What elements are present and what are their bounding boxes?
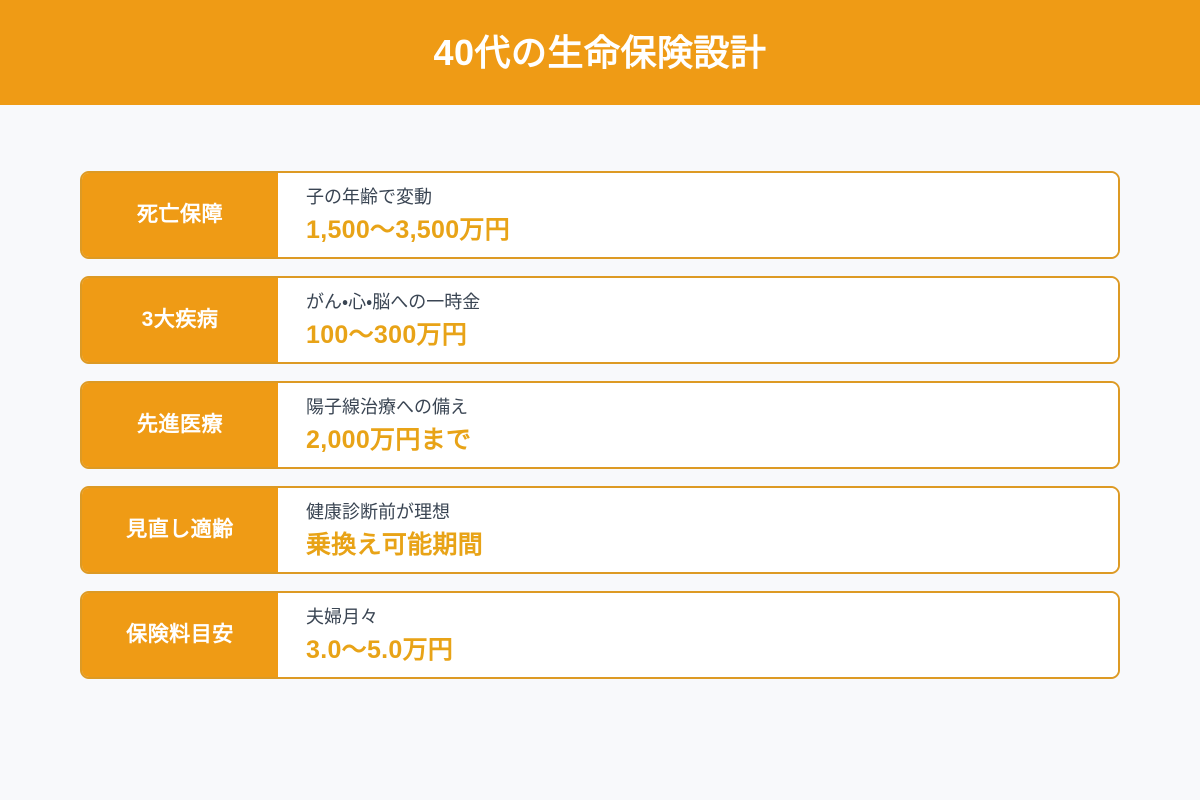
coverage-row-value: 2,000万円まで (306, 425, 1118, 455)
coverage-row-body: 夫婦月々 3.0〜5.0万円 (278, 593, 1118, 677)
coverage-row-body: 健康診断前が理想 乗換え可能期間 (278, 488, 1118, 572)
coverage-row-label: 見直し適齢 (126, 517, 234, 542)
coverage-row-body: 陽子線治療への備え 2,000万円まで (278, 383, 1118, 467)
coverage-row-label: 保険料目安 (126, 622, 234, 647)
coverage-card-list: 死亡保障 子の年齢で変動 1,500〜3,500万円 3大疾病 がん・心・脳への… (0, 171, 1200, 679)
coverage-row-description: 子の年齢で変動 (306, 185, 1118, 209)
coverage-row-label: 先進医療 (137, 412, 223, 437)
infographic-page: 40代の生命保険設計 死亡保障 子の年齢で変動 1,500〜3,500万円 3大… (0, 0, 1200, 800)
coverage-row-description: がん・心・脳への一時金 (306, 290, 1118, 314)
coverage-row-label: 死亡保障 (137, 202, 223, 227)
coverage-row-body: 子の年齢で変動 1,500〜3,500万円 (278, 173, 1118, 257)
coverage-row: 保険料目安 夫婦月々 3.0〜5.0万円 (80, 591, 1120, 679)
coverage-row: 先進医療 陽子線治療への備え 2,000万円まで (80, 381, 1120, 469)
coverage-row-value: 100〜300万円 (306, 320, 1118, 350)
page-title: 40代の生命保険設計 (433, 35, 766, 71)
coverage-row-description: 夫婦月々 (306, 605, 1118, 629)
coverage-row: 3大疾病 がん・心・脳への一時金 100〜300万円 (80, 276, 1120, 364)
coverage-row-label-block: 見直し適齢 (82, 488, 278, 572)
page-header: 40代の生命保険設計 (0, 0, 1200, 105)
coverage-row: 見直し適齢 健康診断前が理想 乗換え可能期間 (80, 486, 1120, 574)
coverage-row: 死亡保障 子の年齢で変動 1,500〜3,500万円 (80, 171, 1120, 259)
coverage-row-label: 3大疾病 (142, 307, 219, 332)
coverage-row-label-block: 死亡保障 (82, 173, 278, 257)
coverage-row-value: 乗換え可能期間 (306, 530, 1118, 560)
coverage-row-label-block: 保険料目安 (82, 593, 278, 677)
coverage-row-description: 陽子線治療への備え (306, 395, 1118, 419)
coverage-row-value: 1,500〜3,500万円 (306, 215, 1118, 245)
coverage-row-body: がん・心・脳への一時金 100〜300万円 (278, 278, 1118, 362)
coverage-row-value: 3.0〜5.0万円 (306, 635, 1118, 665)
coverage-row-label-block: 3大疾病 (82, 278, 278, 362)
coverage-row-description: 健康診断前が理想 (306, 500, 1118, 524)
coverage-row-label-block: 先進医療 (82, 383, 278, 467)
